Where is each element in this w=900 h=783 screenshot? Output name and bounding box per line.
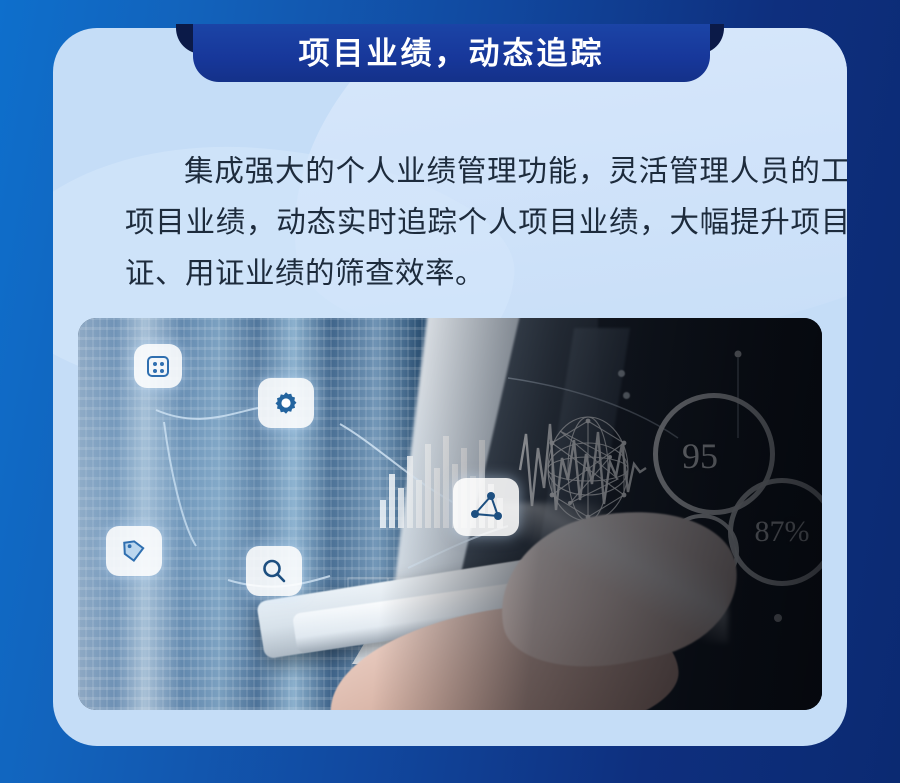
tag-icon xyxy=(106,526,162,576)
photo-vignette xyxy=(78,318,822,710)
title-ribbon: 项目业绩，动态追踪 xyxy=(0,0,900,88)
body-paragraph: 集成强大的个人业绩管理功能，灵活管理人员的工程项目业绩，动态实时追踪个人项目业绩… xyxy=(125,146,847,299)
ribbon-body: 项目业绩，动态追踪 xyxy=(193,24,710,82)
feature-photo: 95 60% 87% xyxy=(78,318,822,710)
page-title: 项目业绩，动态追踪 xyxy=(299,38,605,69)
content-card: 集成强大的个人业绩管理功能，灵活管理人员的工程项目业绩，动态实时追踪个人项目业绩… xyxy=(53,28,847,746)
magnifier-icon xyxy=(246,546,302,596)
grid-dots-icon xyxy=(134,344,182,388)
gear-icon xyxy=(258,378,314,428)
network-nodes-icon xyxy=(453,478,519,536)
